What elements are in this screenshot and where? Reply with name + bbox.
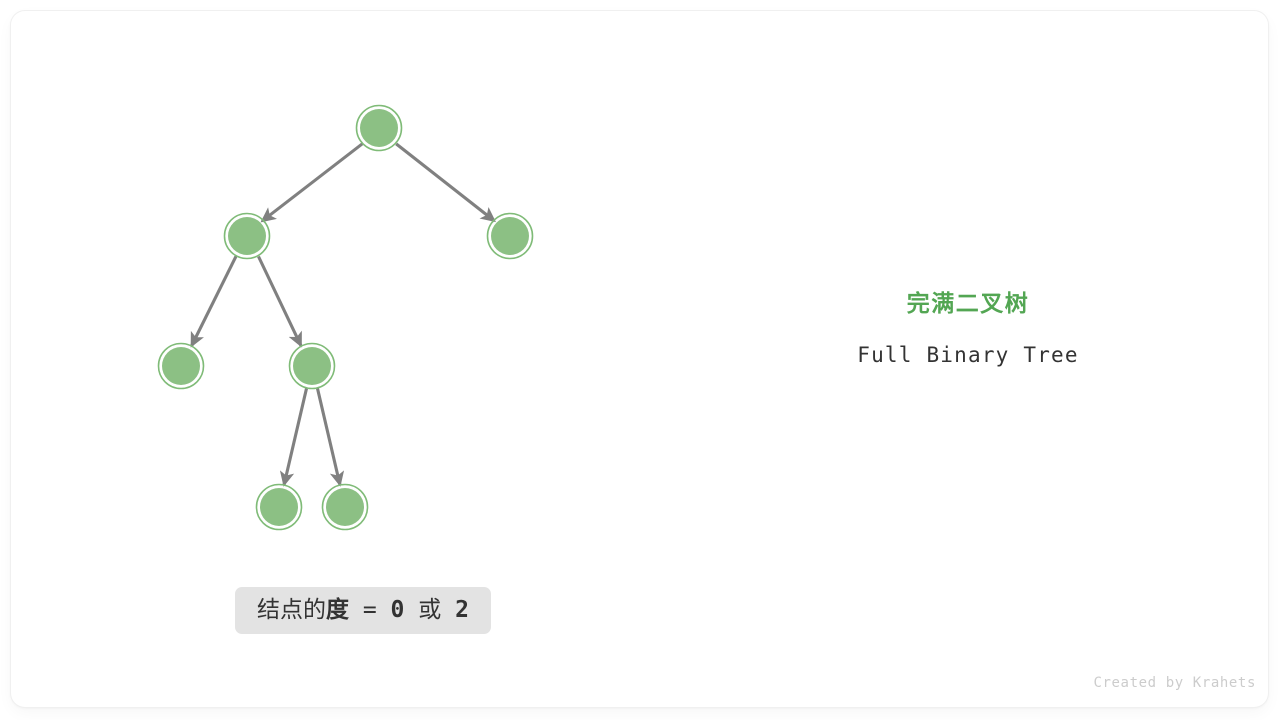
edge-n4-n6 [318, 389, 341, 486]
tree-nodes [159, 106, 533, 530]
degree-legend-text: 结点的度 = 0 或 2 [257, 599, 469, 622]
caption-title-en: Full Binary Tree [768, 345, 1168, 366]
edge-n0-n1 [262, 144, 362, 221]
legend-term: 度 [326, 597, 349, 623]
credit-text: Created by Krahets [1076, 676, 1256, 690]
legend-conjunction: 或 [404, 597, 455, 623]
tree-node-left-left[interactable] [159, 344, 204, 389]
edge-n1-n3 [192, 256, 237, 346]
tree-node-left[interactable] [225, 214, 270, 259]
legend-equals: = [349, 597, 391, 623]
tree-edges [192, 144, 495, 485]
edge-n0-n2 [396, 144, 494, 221]
legend-value-b: 2 [455, 597, 469, 623]
figure-caption: 完满二叉树 Full Binary Tree [768, 292, 1168, 366]
caption-title-zh: 完满二叉树 [768, 292, 1168, 315]
edge-n4-n5 [284, 389, 307, 486]
degree-legend-pill: 结点的度 = 0 或 2 [235, 587, 491, 634]
figure-canvas: 完满二叉树 Full Binary Tree 结点的度 = 0 或 2 Crea… [0, 0, 1280, 720]
tree-node-left-right[interactable] [290, 344, 335, 389]
edge-n1-n4 [259, 257, 302, 346]
tree-node-root[interactable] [357, 106, 402, 151]
tree-node-leaf-a[interactable] [257, 485, 302, 530]
tree-node-leaf-b[interactable] [323, 485, 368, 530]
legend-value-a: 0 [391, 597, 405, 623]
tree-node-right[interactable] [488, 214, 533, 259]
legend-prefix: 结点的 [257, 597, 326, 623]
